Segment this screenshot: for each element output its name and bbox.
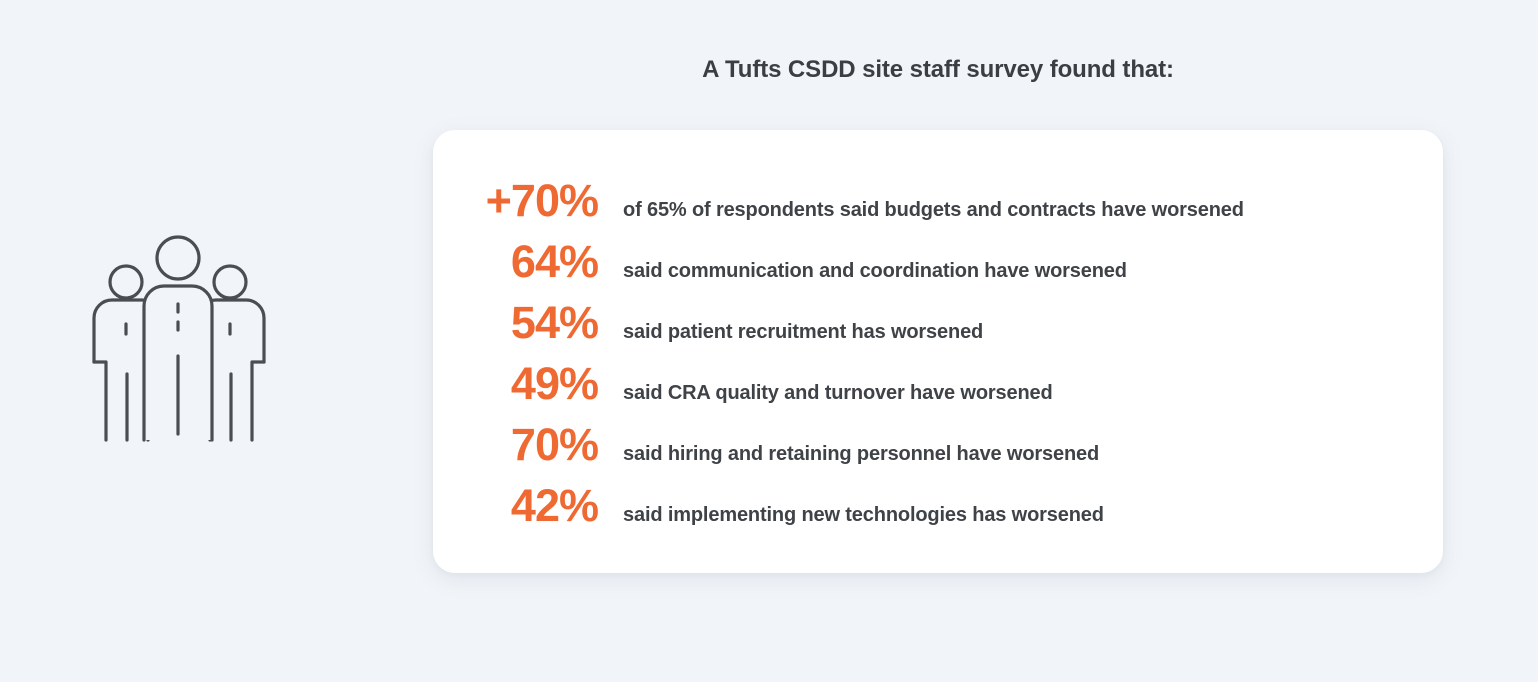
- stat-value: 42%: [433, 483, 598, 528]
- stat-label: said CRA quality and turnover have worse…: [623, 383, 1053, 403]
- stat-value: 49%: [433, 361, 598, 406]
- three-people-group-icon: [80, 228, 280, 448]
- stat-row: 54% said patient recruitment has worsene…: [433, 300, 1443, 361]
- stat-label: said patient recruitment has worsened: [623, 322, 983, 342]
- stat-label: said communication and coordination have…: [623, 261, 1127, 281]
- stat-row: 49% said CRA quality and turnover have w…: [433, 361, 1443, 422]
- stat-row: +70% of 65% of respondents said budgets …: [433, 178, 1443, 239]
- stat-label: said hiring and retaining personnel have…: [623, 444, 1099, 464]
- stat-label: of 65% of respondents said budgets and c…: [623, 200, 1244, 220]
- stat-value: +70%: [433, 178, 598, 223]
- stat-label: said implementing new technologies has w…: [623, 505, 1104, 525]
- stat-value: 64%: [433, 239, 598, 284]
- stat-value: 70%: [433, 422, 598, 467]
- stats-list: +70% of 65% of respondents said budgets …: [433, 178, 1443, 544]
- stat-value: 54%: [433, 300, 598, 345]
- stat-row: 42% said implementing new technologies h…: [433, 483, 1443, 544]
- page-title: A Tufts CSDD site staff survey found tha…: [433, 56, 1443, 84]
- stat-row: 70% said hiring and retaining personnel …: [433, 422, 1443, 483]
- infographic-root: A Tufts CSDD site staff survey found tha…: [0, 0, 1538, 682]
- stat-row: 64% said communication and coordination …: [433, 239, 1443, 300]
- stats-card: +70% of 65% of respondents said budgets …: [433, 130, 1443, 573]
